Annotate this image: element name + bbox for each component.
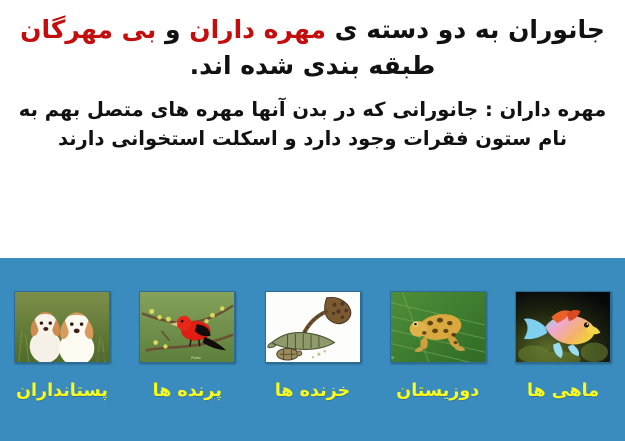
dogs-photo [14, 291, 110, 363]
classification-card-mammals[interactable]: پستانداران [8, 291, 116, 401]
svg-text:Photo: Photo [192, 356, 201, 360]
frog-photo: TS [390, 291, 486, 363]
text-area: جانوران به دو دسته ی مهره داران و بی مهر… [0, 0, 625, 258]
headline-part-2: و [156, 15, 189, 44]
headline-part-1: جانوران به دو دسته ی [326, 15, 605, 44]
bird-photo: Photo [139, 291, 235, 363]
classification-card-fish[interactable]: ماهی ها [509, 291, 617, 401]
definition-paragraph: مهره داران : جانورانی که در بدن آنها مهر… [0, 95, 625, 154]
classification-card-reptiles[interactable]: خزنده ها [259, 291, 367, 401]
classification-panel: پستانداران [0, 258, 625, 441]
classification-card-amphibians[interactable]: TS دوزیستان [384, 291, 492, 401]
fish-photo [515, 291, 611, 363]
card-label-mammals: پستانداران [16, 381, 108, 401]
slide-canvas: جانوران به دو دسته ی مهره داران و بی مهر… [0, 0, 625, 441]
card-label-birds: پرنده ها [153, 381, 222, 401]
card-label-reptiles: خزنده ها [275, 381, 350, 401]
headline-accent-invertebrates: بی مهرگان [20, 15, 156, 44]
card-label-amphibians: دوزیستان [396, 381, 479, 401]
card-label-fish: ماهی ها [527, 381, 599, 401]
page-title: جانوران به دو دسته ی مهره داران و بی مهر… [0, 12, 625, 83]
svg-text:TS: TS [391, 356, 394, 360]
headline-part-3: طبقه بندی شده اند. [190, 51, 436, 80]
headline-accent-vertebrates: مهره داران [189, 15, 326, 44]
classification-card-birds[interactable]: Photo پرنده ها [133, 291, 241, 401]
classification-card-list: پستانداران [0, 258, 625, 441]
reptiles-illustration [265, 291, 361, 363]
